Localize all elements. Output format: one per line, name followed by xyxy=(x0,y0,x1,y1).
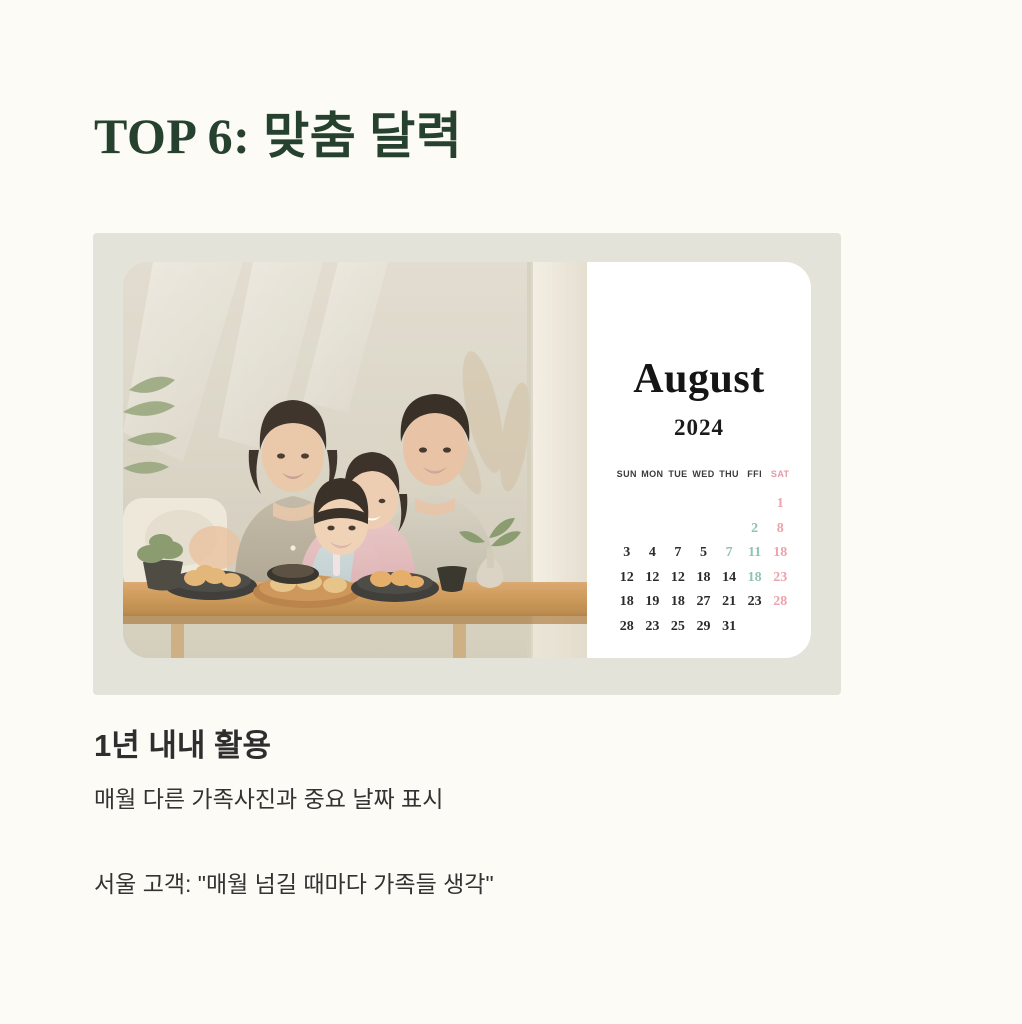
caption-subtext: 매월 다른 가족사진과 중요 날짜 표시 xyxy=(94,784,934,815)
calendar-day-cell[interactable]: 28 xyxy=(614,618,640,636)
calendar-day-cell[interactable]: 29 xyxy=(691,618,717,636)
calendar-dow-thu: THU xyxy=(716,469,742,488)
frame-inner: August 2024 SUN MON TUE WED THU FFI SAT … xyxy=(123,262,811,658)
page-title: TOP 6: 맞춤 달력 xyxy=(94,96,462,168)
calendar-day-cell[interactable]: 11 xyxy=(742,544,768,562)
calendar-grid: SUN MON TUE WED THU FFI SAT 128347571118… xyxy=(614,469,793,635)
calendar-day-cell-empty xyxy=(665,520,691,538)
calendar-day-cell-empty xyxy=(614,495,640,513)
calendar-day-cell-empty xyxy=(742,495,768,513)
calendar-year-label: 2024 xyxy=(587,416,811,439)
calendar-month-label: August xyxy=(587,358,811,400)
calendar-day-cell[interactable]: 23 xyxy=(767,569,793,587)
calendar-day-cell[interactable]: 27 xyxy=(691,593,717,611)
family-photo-illustration xyxy=(123,262,587,658)
calendar-day-cell[interactable]: 18 xyxy=(614,593,640,611)
calendar-day-cell[interactable]: 28 xyxy=(767,593,793,611)
calendar-day-cell[interactable]: 31 xyxy=(716,618,742,636)
calendar-day-cell[interactable]: 1 xyxy=(767,495,793,513)
calendar-day-cell[interactable]: 25 xyxy=(665,618,691,636)
calendar-day-cell-empty xyxy=(767,618,793,636)
calendar-dow-tue: TUE xyxy=(665,469,691,488)
calendar-day-cell[interactable]: 18 xyxy=(742,569,768,587)
calendar-dow-wed: WED xyxy=(691,469,717,488)
calendar-day-cell[interactable]: 8 xyxy=(767,520,793,538)
calendar-day-cell[interactable]: 21 xyxy=(716,593,742,611)
calendar-day-cell-empty xyxy=(640,520,666,538)
calendar-day-cell-empty xyxy=(716,520,742,538)
calendar-dow-sat: SAT xyxy=(767,469,793,488)
calendar-day-cell[interactable]: 18 xyxy=(691,569,717,587)
calendar-day-cell[interactable]: 18 xyxy=(767,544,793,562)
calendar-day-cell[interactable]: 23 xyxy=(742,593,768,611)
calendar-day-cell-empty xyxy=(742,618,768,636)
calendar-day-cell-empty xyxy=(691,495,717,513)
calendar-day-cell[interactable]: 19 xyxy=(640,593,666,611)
calendar-day-cell[interactable]: 3 xyxy=(614,544,640,562)
calendar-day-cell-empty xyxy=(614,520,640,538)
calendar-day-cell[interactable]: 12 xyxy=(640,569,666,587)
calendar-day-cell[interactable]: 2 xyxy=(742,520,768,538)
calendar-day-cell-empty xyxy=(691,520,717,538)
calendar-day-cell[interactable]: 4 xyxy=(640,544,666,562)
calendar-day-cell-empty xyxy=(716,495,742,513)
calendar-day-cell[interactable]: 7 xyxy=(716,544,742,562)
calendar-dow-mon: MON xyxy=(640,469,666,488)
calendar-day-cell[interactable]: 12 xyxy=(665,569,691,587)
calendar-day-cell[interactable]: 14 xyxy=(716,569,742,587)
caption-heading: 1년 내내 활용 xyxy=(94,726,934,766)
calendar-day-cell[interactable]: 23 xyxy=(640,618,666,636)
family-photo xyxy=(123,262,587,658)
calendar-day-cell[interactable]: 12 xyxy=(614,569,640,587)
caption-quote: 서울 고객: "매월 넘길 때마다 가족들 생각" xyxy=(94,869,934,900)
calendar-day-cell-empty xyxy=(640,495,666,513)
calendar-dow-fri: FFI xyxy=(742,469,768,488)
calendar-day-cell[interactable]: 7 xyxy=(665,544,691,562)
calendar-day-cell[interactable]: 5 xyxy=(691,544,717,562)
calendar-dow-sun: SUN xyxy=(614,469,640,488)
calendar-day-cell-empty xyxy=(665,495,691,513)
calendar-panel: August 2024 SUN MON TUE WED THU FFI SAT … xyxy=(587,262,811,658)
product-frame: August 2024 SUN MON TUE WED THU FFI SAT … xyxy=(93,233,841,695)
caption-block: 1년 내내 활용 매월 다른 가족사진과 중요 날짜 표시 서울 고객: "매월… xyxy=(94,726,934,900)
calendar-day-cell[interactable]: 18 xyxy=(665,593,691,611)
